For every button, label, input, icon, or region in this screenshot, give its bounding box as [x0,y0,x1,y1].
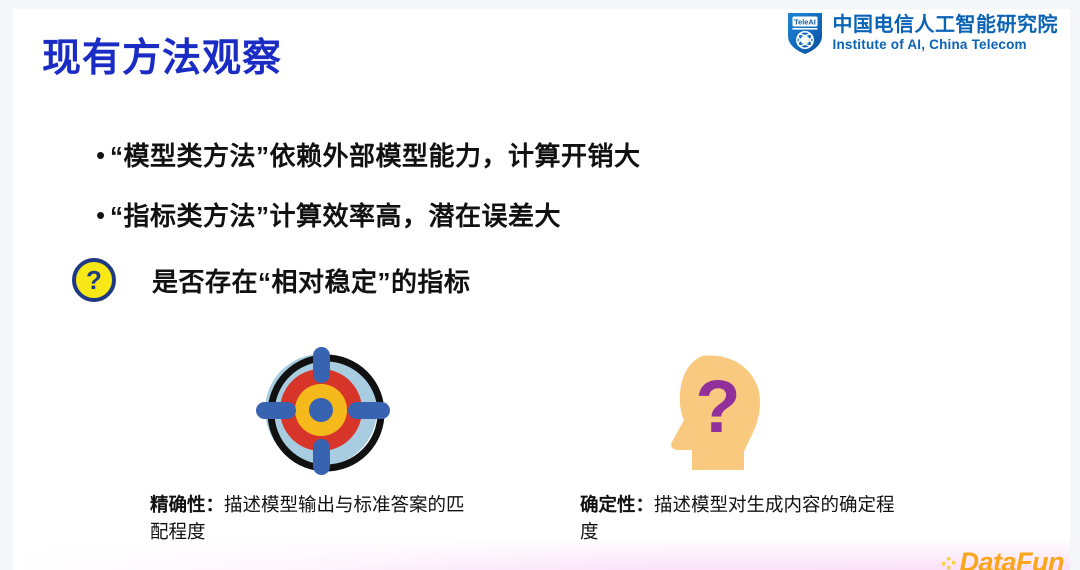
bullet-item-2: • “指标类方法”计算效率高，潜在误差大 [76,196,561,233]
svg-text:?: ? [695,365,740,448]
brand-text-block: 中国电信人工智能研究院 Institute of AI, China Telec… [833,14,1059,53]
figure-certainty: ? 确定性：描述模型对生成内容的确定程度 [580,345,940,546]
svg-text:TeleAI: TeleAI [794,17,816,26]
figure-accuracy: 精确性：描述模型输出与标准答案的匹配程度 [150,345,510,546]
target-icon [150,345,510,480]
page-gutter-top [0,0,1080,9]
bullet-item-3: ? 是否存在“相对稳定”的指标 [72,258,471,302]
page-gutter-left [0,0,13,570]
brand-name-en: Institute of AI, China Telecom [833,37,1059,53]
figure-accuracy-caption: 精确性：描述模型输出与标准答案的匹配程度 [150,492,480,546]
bullet-text-1: “模型类方法”依赖外部模型能力，计算开销大 [110,136,641,173]
slide-canvas: 现有方法观察 TeleAI [0,0,1080,570]
datafun-label: DataFun [960,550,1065,570]
question-badge-icon: ? [72,258,116,302]
figure-certainty-caption: 确定性：描述模型对生成内容的确定程度 [580,492,910,546]
bullet-marker-icon: • [76,142,110,168]
head-question-icon: ? [580,345,940,480]
caption-lead-certainty: 确定性： [580,494,654,515]
brand-name-cn: 中国电信人工智能研究院 [833,14,1059,37]
brand-lockup: TeleAI 中国电信人工智能研究院 Institute of AI, Chin… [786,11,1059,55]
datafun-watermark: DataFun [942,550,1065,570]
caption-lead-accuracy: 精确性： [150,494,224,515]
bullet-marker-icon: • [76,202,110,228]
bullet-text-3: 是否存在“相对稳定”的指标 [152,262,471,299]
page-title: 现有方法观察 [42,27,282,83]
bottom-gradient-band [13,540,1070,570]
bullet-text-2: “指标类方法”计算效率高，潜在误差大 [110,196,561,233]
page-gutter-right [1070,0,1080,570]
bullet-item-1: • “模型类方法”依赖外部模型能力，计算开销大 [76,136,641,173]
datafun-sparkle-icon [942,555,958,570]
teleai-shield-icon: TeleAI [786,11,824,55]
